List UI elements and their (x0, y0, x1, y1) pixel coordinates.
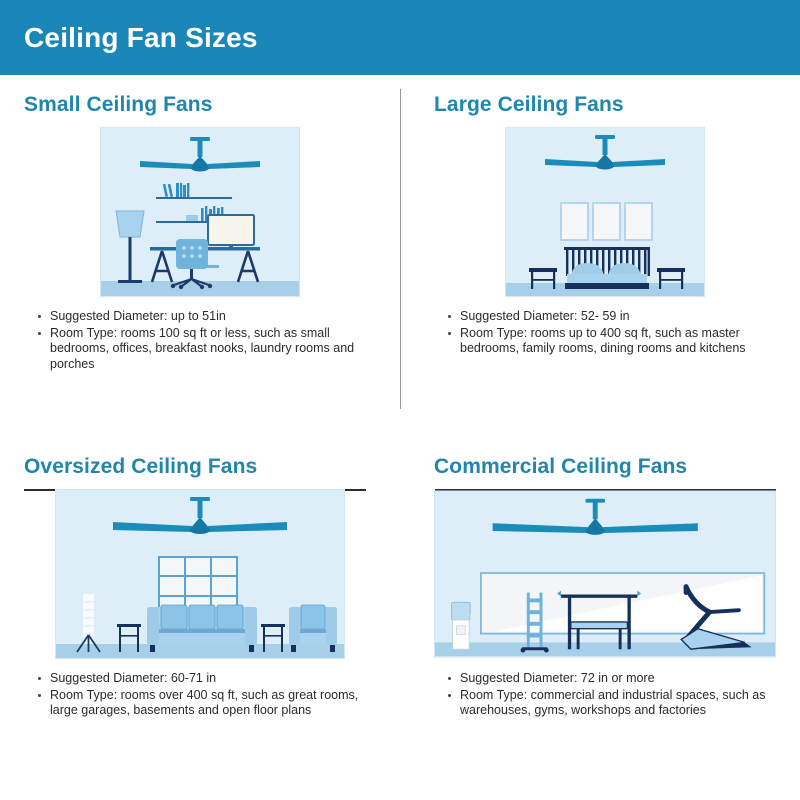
gym-room-illustration (434, 489, 776, 659)
bullet-diameter: Suggested Diameter: up to 51in (34, 309, 376, 325)
home-office-room-illustration (100, 127, 300, 297)
sofa-icon (147, 605, 257, 652)
section-bullets-large: Suggested Diameter: 52- 59 in Room Type:… (444, 309, 776, 357)
section-title-commercial: Commercial Ceiling Fans (434, 455, 776, 479)
section-small-ceiling-fans: Small Ceiling Fans (0, 75, 400, 437)
bullet-room-type: Room Type: rooms 100 sq ft or less, such… (34, 326, 376, 373)
page-title: Ceiling Fan Sizes (24, 22, 258, 54)
section-large-ceiling-fans: Large Ceiling Fans (400, 75, 800, 437)
page-header: Ceiling Fan Sizes (0, 0, 800, 75)
bullet-diameter: Suggested Diameter: 52- 59 in (444, 309, 776, 325)
illustration-home-office-wrap (24, 127, 376, 297)
section-bullets-commercial: Suggested Diameter: 72 in or more Room T… (444, 671, 776, 719)
bullet-room-type: Room Type: rooms up to 400 sq ft, such a… (444, 326, 776, 357)
living-room-illustration (55, 489, 345, 659)
bedroom-room-illustration (505, 127, 705, 297)
wall-art-frames (561, 203, 652, 240)
bullet-room-type: Room Type: commercial and industrial spa… (444, 688, 776, 719)
section-bullets-small: Suggested Diameter: up to 51in Room Type… (34, 309, 376, 372)
section-oversized-ceiling-fans: Oversized Ceiling Fans (0, 437, 400, 799)
section-title-oversized: Oversized Ceiling Fans (24, 455, 376, 479)
section-commercial-ceiling-fans: Commercial Ceiling Fans (400, 437, 800, 799)
section-title-large: Large Ceiling Fans (434, 93, 776, 117)
illustration-gym-wrap (434, 489, 776, 659)
section-title-small: Small Ceiling Fans (24, 93, 376, 117)
bullet-room-type: Room Type: rooms over 400 sq ft, such as… (34, 688, 376, 719)
sections-row-bottom: Oversized Ceiling Fans (0, 437, 800, 799)
illustration-bedroom-wrap (434, 127, 776, 297)
sections-row-top: Small Ceiling Fans (0, 75, 800, 437)
illustration-living-room-wrap (24, 489, 376, 659)
section-bullets-oversized: Suggested Diameter: 60-71 in Room Type: … (34, 671, 376, 719)
bullet-diameter: Suggested Diameter: 60-71 in (34, 671, 376, 687)
bullet-diameter: Suggested Diameter: 72 in or more (444, 671, 776, 687)
monitor-icon (208, 215, 254, 251)
infographic-page: Ceiling Fan Sizes Small Ceiling Fans (0, 0, 800, 800)
sections-grid: Small Ceiling Fans (0, 75, 800, 800)
armchair-icon (289, 605, 337, 652)
